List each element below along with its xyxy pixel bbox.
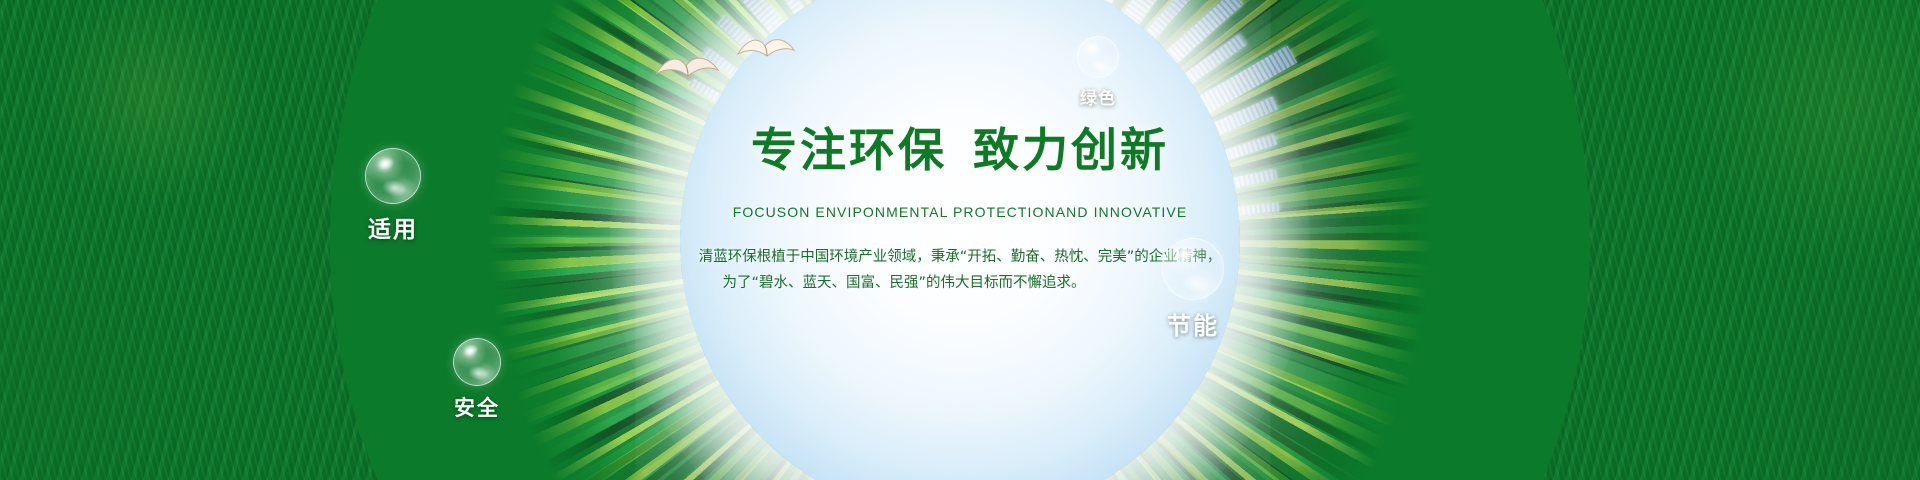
description-paragraph: 清蓝环保根植于中国环境产业领域，秉承“开拓、勤奋、热忱、完美”的企业精神， 为了… [0, 244, 1920, 296]
feature-label-lvse: 绿色 [1028, 84, 1168, 109]
paragraph-line-1: 清蓝环保根植于中国环境产业领域，秉承“开拓、勤奋、热忱、完美”的企业精神， [0, 244, 1920, 270]
bubble-icon [365, 148, 421, 204]
feature-jieneng: 节能 [1108, 238, 1278, 341]
headline: 专注环保致力创新 [0, 126, 1920, 176]
bubble-icon [1077, 36, 1119, 78]
feature-label-jieneng: 节能 [1108, 306, 1278, 341]
paragraph-line-2: 为了“碧水、蓝天、国富、民强”的伟大目标而不懈追求。 [0, 270, 1920, 296]
hero-banner: 专注环保致力创新 FOCUSON ENVIPONMENTAL PROTECTIO… [0, 0, 1920, 480]
feature-anquan: 安全 [402, 338, 552, 422]
bubble-icon [453, 338, 501, 386]
bubble-icon [1162, 238, 1224, 300]
feature-lvse: 绿色 [1028, 36, 1168, 109]
headline-part1: 专注环保 [751, 123, 947, 177]
copy-block: 专注环保致力创新 FOCUSON ENVIPONMENTAL PROTECTIO… [0, 0, 1920, 480]
headline-part2: 致力创新 [973, 123, 1169, 177]
subline: FOCUSON ENVIPONMENTAL PROTECTIONAND INNO… [0, 204, 1920, 220]
feature-label-anquan: 安全 [402, 392, 552, 422]
feature-label-shiyong: 适用 [308, 210, 478, 244]
feature-shiyong: 适用 [308, 148, 478, 244]
